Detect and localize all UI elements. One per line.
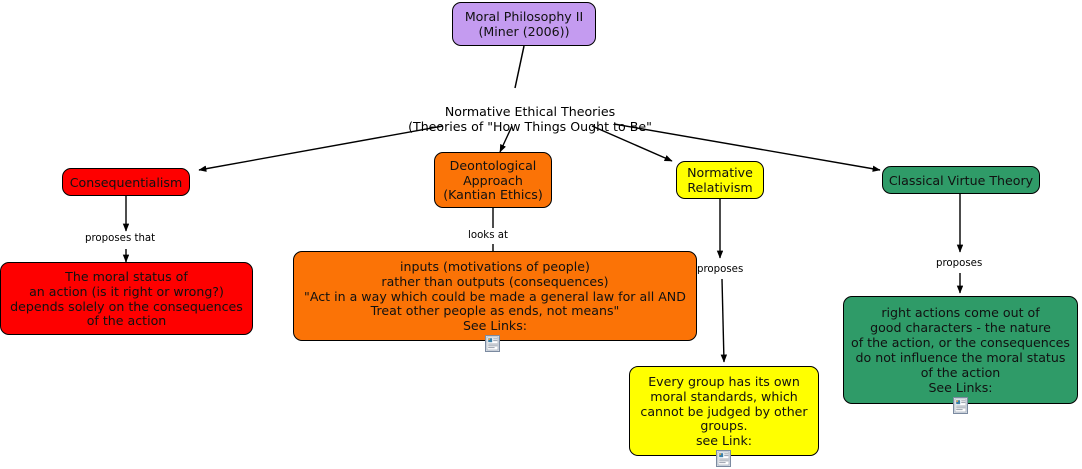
node-moral-philosophy-root[interactable]: Moral Philosophy II (Miner (2006))	[452, 2, 596, 46]
node-consequentialism-proposition[interactable]: The moral status of an action (is it rig…	[0, 262, 253, 335]
link-label-text: proposes that	[85, 233, 155, 244]
concept-map-canvas: Moral Philosophy II (Miner (2006)) Norma…	[0, 0, 1082, 469]
node-label: The moral status of an action (is it rig…	[10, 269, 243, 329]
node-consequentialism[interactable]: Consequentialism	[62, 168, 190, 196]
node-label: Deontological Approach (Kantian Ethics)	[443, 158, 543, 203]
node-label: Every group has its own moral standards,…	[640, 374, 807, 449]
node-label: Moral Philosophy II (Miner (2006))	[465, 9, 583, 39]
link-label-proposes-virtue: proposes	[936, 258, 982, 269]
link-label-proposes-relativism: proposes	[697, 264, 743, 275]
node-relativism-proposition[interactable]: Every group has its own moral standards,…	[629, 366, 819, 456]
hub-label-text: Normative Ethical Theories (Theories of …	[408, 104, 652, 135]
node-label: Consequentialism	[70, 175, 182, 190]
link-label-proposes-that: proposes that	[85, 233, 155, 244]
edge-root-to-hub	[515, 46, 524, 88]
hub-label-normative-ethical-theories: Normative Ethical Theories (Theories of …	[380, 88, 680, 135]
resource-list-icon[interactable]	[953, 397, 968, 414]
node-normative-relativism[interactable]: Normative Relativism	[676, 161, 764, 199]
node-label: Classical Virtue Theory	[889, 173, 1033, 188]
node-label: Normative Relativism	[687, 165, 753, 195]
node-virtue-proposition[interactable]: right actions come out of good character…	[843, 296, 1078, 404]
link-label-text: proposes	[936, 258, 982, 269]
link-label-text: looks at	[468, 230, 508, 241]
node-label: inputs (motivations of people) rather th…	[304, 259, 686, 334]
node-label: right actions come out of good character…	[851, 305, 1070, 395]
resource-list-icon[interactable]	[485, 335, 500, 352]
edge-label-to-relativism-prop	[722, 279, 724, 362]
node-classical-virtue-theory[interactable]: Classical Virtue Theory	[882, 166, 1040, 194]
link-label-looks-at: looks at	[468, 230, 508, 241]
node-deontological-proposition[interactable]: inputs (motivations of people) rather th…	[293, 251, 697, 341]
resource-list-icon[interactable]	[716, 450, 731, 467]
link-label-text: proposes	[697, 264, 743, 275]
node-deontological-approach[interactable]: Deontological Approach (Kantian Ethics)	[434, 152, 552, 208]
